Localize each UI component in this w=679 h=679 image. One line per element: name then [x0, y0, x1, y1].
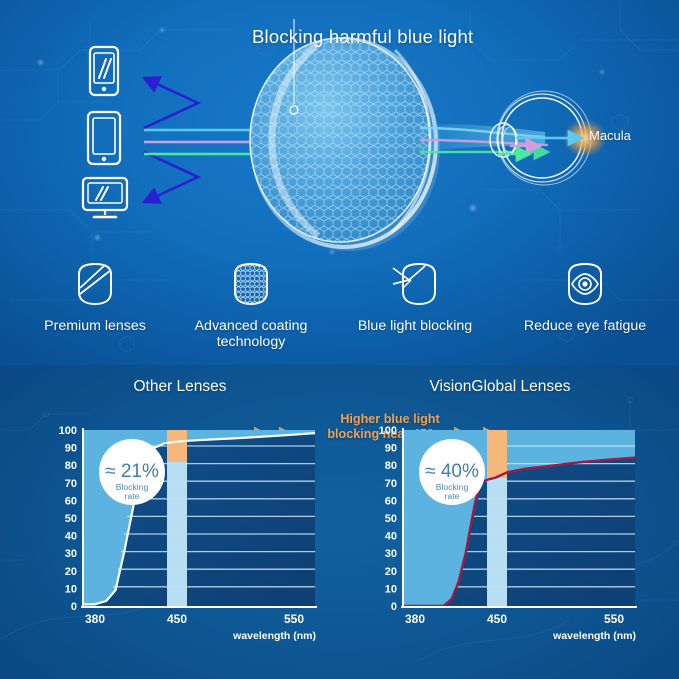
feature-item-advanced-coating[interactable]: Advanced coating technology — [166, 258, 336, 350]
svg-text:100: 100 — [379, 425, 397, 437]
svg-text:20: 20 — [385, 566, 397, 578]
feature-item-reduce-eye-fatigue[interactable]: Reduce eye fatigue — [500, 258, 670, 334]
reflected-blue-ray-top — [144, 78, 198, 128]
x-axis-label: wavelength (nm) — [552, 630, 636, 642]
svg-text:80: 80 — [65, 460, 77, 472]
svg-text:50: 50 — [65, 513, 77, 525]
svg-text:40: 40 — [65, 531, 77, 543]
feature-row: Premium lenses Advanced c — [0, 258, 679, 358]
svg-text:450: 450 — [167, 612, 187, 626]
svg-text:60: 60 — [385, 495, 397, 507]
blocking-rate-badge: ≈ 21% Blocking rate — [99, 439, 165, 505]
svg-text:40: 40 — [385, 531, 397, 543]
svg-text:20: 20 — [65, 566, 77, 578]
macula-label: Macula — [589, 128, 631, 143]
svg-text:550: 550 — [604, 612, 624, 626]
lens-icon — [10, 258, 180, 310]
y-tick-labels: 100 90 80 70 60 50 40 30 20 10 0 — [59, 425, 77, 613]
feature-item-premium-lenses[interactable]: Premium lenses — [10, 258, 180, 334]
svg-text:80: 80 — [385, 460, 397, 472]
svg-text:550: 550 — [284, 612, 304, 626]
svg-text:60: 60 — [65, 495, 77, 507]
chart-visionglobal-lenses: VisionGlobal Lenses — [340, 378, 660, 678]
svg-text:30: 30 — [385, 548, 397, 560]
badge-caption-2: rate — [445, 491, 460, 501]
svg-text:380: 380 — [405, 612, 425, 626]
reflected-blue-ray-bottom — [144, 152, 198, 202]
svg-text:0: 0 — [391, 601, 397, 613]
svg-text:30: 30 — [65, 548, 77, 560]
badge-caption-2: rate — [125, 491, 140, 501]
feature-label: Premium lenses — [10, 318, 180, 334]
svg-text:100: 100 — [59, 425, 77, 437]
svg-text:450: 450 — [487, 612, 507, 626]
svg-text:70: 70 — [385, 478, 397, 490]
blocking-rate-badge: ≈ 40% Blocking rate — [419, 439, 485, 505]
feature-label: Blue light blocking — [330, 318, 500, 334]
feature-label: Reduce eye fatigue — [500, 318, 670, 334]
chart-other-lenses: Other Lenses — [20, 378, 340, 678]
svg-text:50: 50 — [385, 513, 397, 525]
svg-text:90: 90 — [65, 443, 77, 455]
svg-text:70: 70 — [65, 478, 77, 490]
x-tick-labels: 380 450 550 — [85, 612, 304, 626]
svg-text:0: 0 — [71, 601, 77, 613]
lens-graphic — [250, 38, 440, 251]
infographic-root: Blocking harmful blue light Macula — [0, 0, 679, 679]
eye-icon — [500, 258, 670, 310]
chart-svg-left: ≈ 21% Blocking rate 100 90 80 70 60 50 4… — [20, 378, 340, 678]
x-tick-labels: 380 450 550 — [405, 612, 624, 626]
badge-value: ≈ 21% — [105, 461, 159, 482]
svg-text:380: 380 — [85, 612, 105, 626]
blue-light-block-icon — [330, 258, 500, 310]
chart-svg-right: ≈ 40% Blocking rate 100 90 80 70 60 50 4… — [340, 378, 660, 678]
x-axis-label: wavelength (nm) — [232, 630, 316, 642]
coating-mesh-icon — [166, 258, 336, 310]
badge-value: ≈ 40% — [425, 461, 479, 482]
svg-text:10: 10 — [385, 583, 397, 595]
feature-label: Advanced coating technology — [166, 318, 336, 350]
svg-text:90: 90 — [385, 443, 397, 455]
y-tick-labels: 100 90 80 70 60 50 40 30 20 10 0 — [379, 425, 397, 613]
svg-text:10: 10 — [65, 583, 77, 595]
smartphone-icon — [84, 45, 124, 97]
monitor-icon — [80, 176, 130, 220]
feature-item-blue-light-blocking[interactable]: Blue light blocking — [330, 258, 500, 334]
tablet-icon — [82, 110, 126, 166]
hero-title: Blocking harmful blue light — [252, 26, 473, 48]
